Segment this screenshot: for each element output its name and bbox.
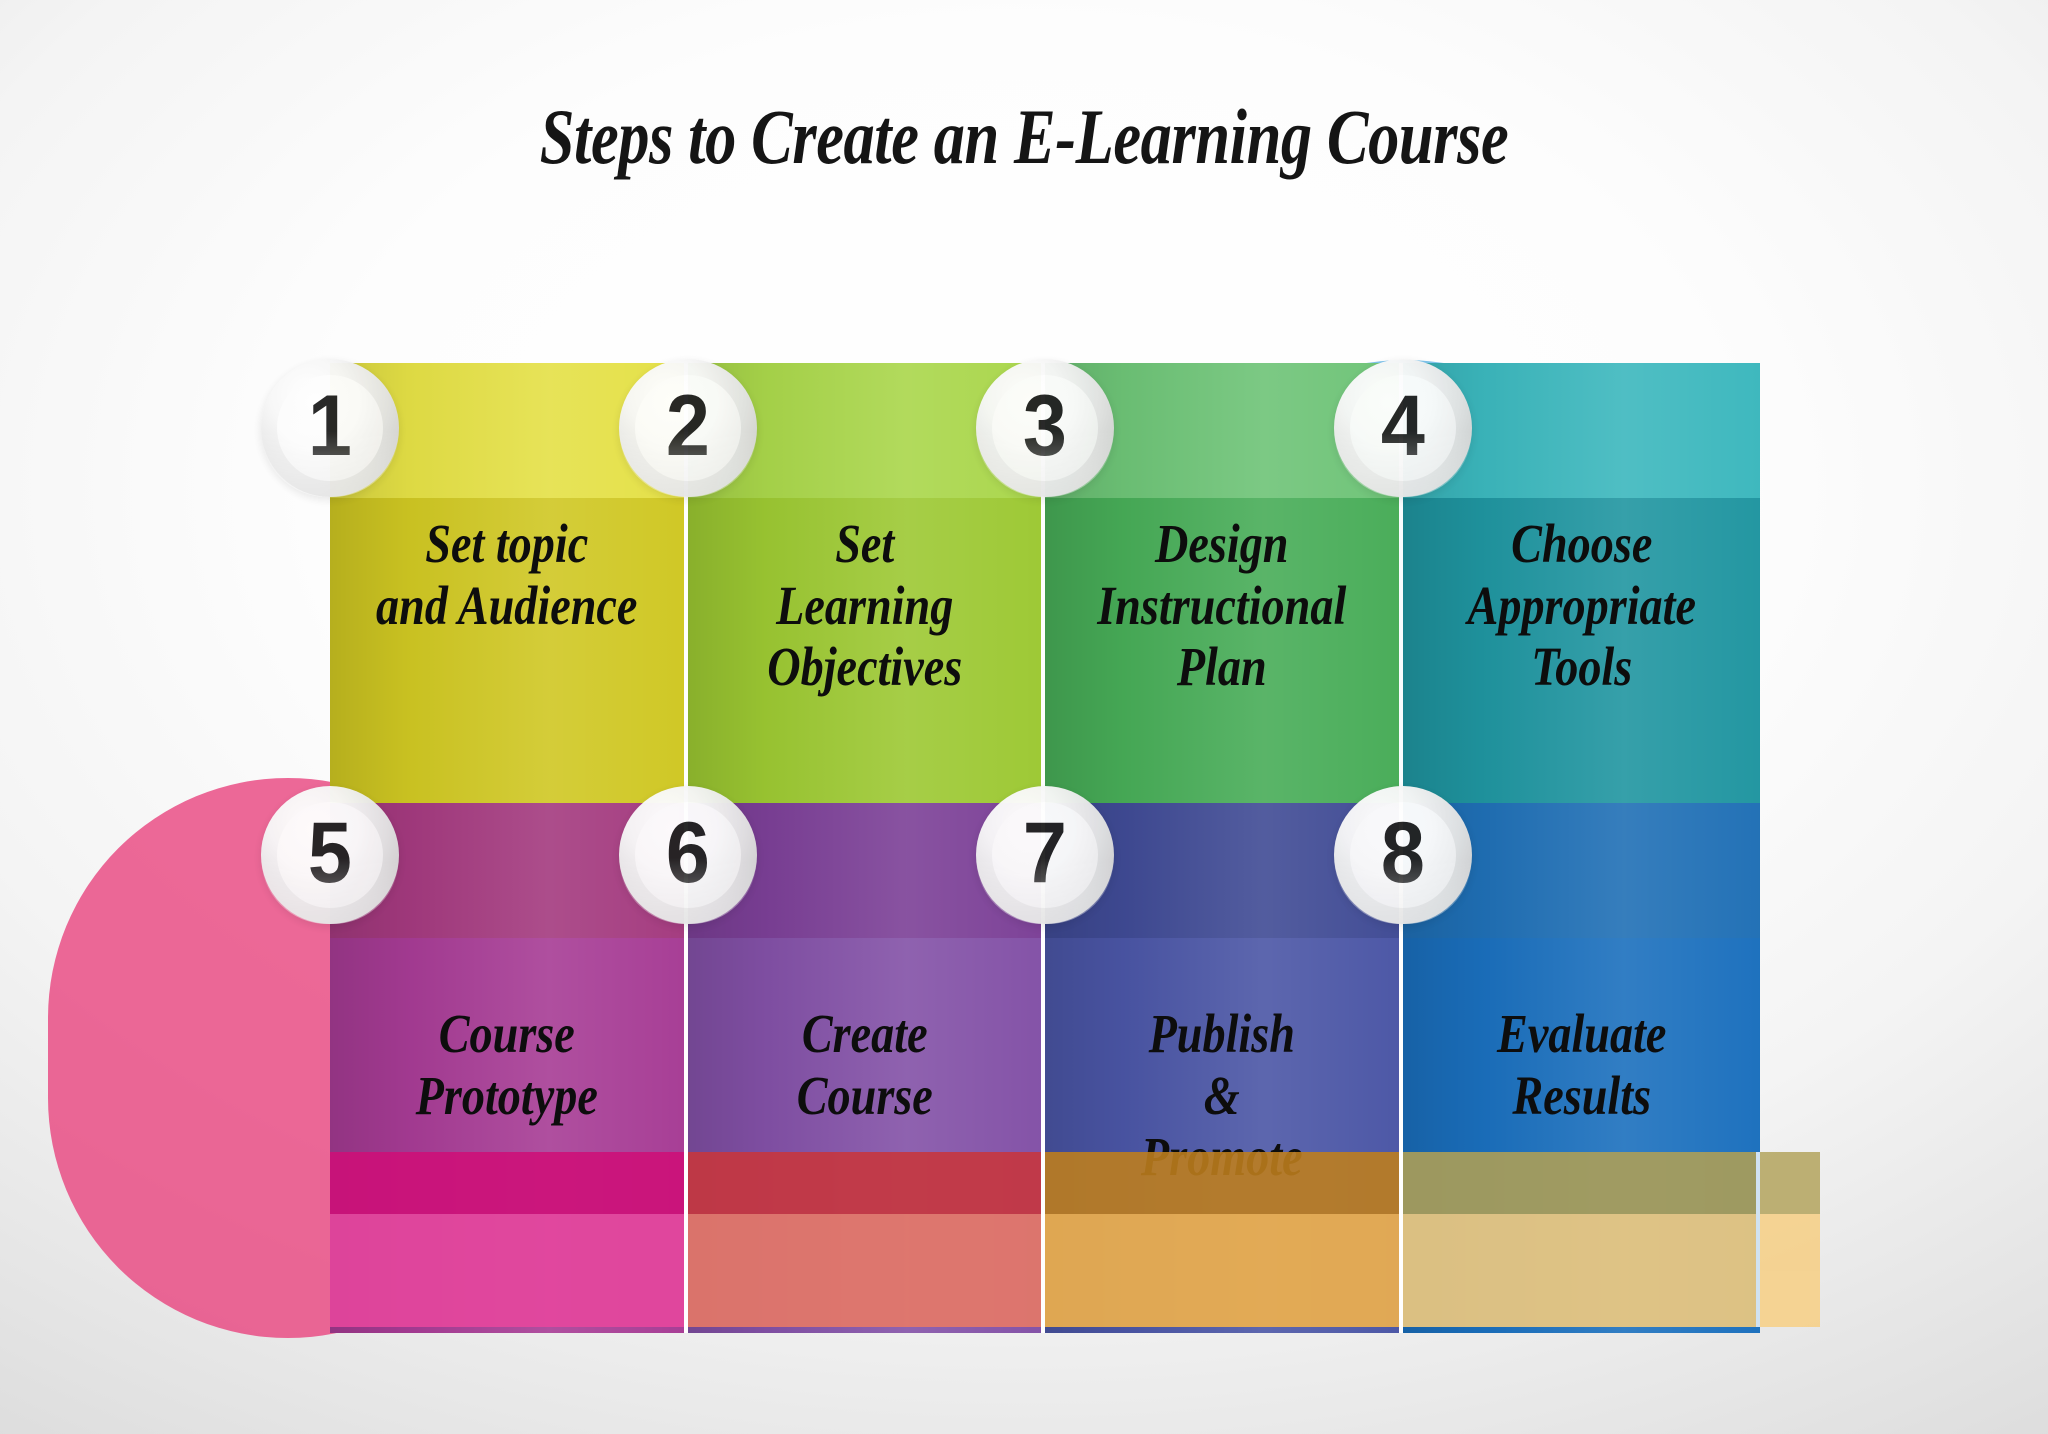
- accent-band-7-bottom: [1045, 1214, 1399, 1327]
- infographic-canvas: Steps to Create an E-Learning Course Set…: [0, 0, 2048, 1434]
- step-badge-3-number: 3: [1023, 383, 1067, 469]
- accent-band-8: [1403, 1152, 1761, 1327]
- step-8-label: EvaluateResults: [1431, 1003, 1731, 1126]
- accent-band-overflow: [1760, 1152, 1820, 1327]
- step-badge-4-number: 4: [1380, 383, 1424, 469]
- page-title: Steps to Create an E-Learning Course: [205, 98, 1843, 176]
- step-badge-2[interactable]: 2: [619, 359, 757, 497]
- step-badge-4-inner: 4: [1350, 375, 1456, 481]
- accent-band-5-bottom: [330, 1214, 684, 1327]
- step-badge-3-inner: 3: [992, 375, 1098, 481]
- accent-band-5-top: [330, 1152, 684, 1214]
- step-4-label: ChooseAppropriateTools: [1431, 513, 1731, 698]
- step-badge-5-inner: 5: [277, 802, 383, 908]
- accent-band-7: [1045, 1152, 1403, 1327]
- step-badge-1[interactable]: 1: [261, 359, 399, 497]
- accent-band-7-top: [1045, 1152, 1399, 1214]
- accent-band-6-bottom: [688, 1214, 1042, 1327]
- step-badge-7-number: 7: [1023, 810, 1067, 896]
- step-6-label: CreateCourse: [716, 1003, 1013, 1126]
- step-badge-2-number: 2: [665, 383, 709, 469]
- step-2-label: SetLearningObjectives: [716, 513, 1013, 698]
- step-badge-3[interactable]: 3: [976, 359, 1114, 497]
- accent-band-5: [330, 1152, 688, 1327]
- step-1-label: Set topicand Audience: [358, 513, 655, 636]
- step-badge-6-number: 6: [665, 810, 709, 896]
- step-badge-8[interactable]: 8: [1334, 786, 1472, 924]
- step-badge-4[interactable]: 4: [1334, 359, 1472, 497]
- accent-band-8-bottom: [1403, 1214, 1757, 1327]
- accent-band-8-top: [1403, 1152, 1757, 1214]
- step-badge-7[interactable]: 7: [976, 786, 1114, 924]
- step-3-label: DesignInstructionalPlan: [1073, 513, 1370, 698]
- step-badge-8-number: 8: [1380, 810, 1424, 896]
- step-badge-6-inner: 6: [635, 802, 741, 908]
- step-badge-5[interactable]: 5: [261, 786, 399, 924]
- step-badge-5-number: 5: [308, 810, 352, 896]
- step-5-label: CoursePrototype: [358, 1003, 655, 1126]
- accent-band-6-top: [688, 1152, 1042, 1214]
- accent-band-overflow-top: [1760, 1152, 1820, 1214]
- accent-band-overflow-bottom: [1760, 1214, 1820, 1327]
- step-badge-8-inner: 8: [1350, 802, 1456, 908]
- step-badge-1-number: 1: [308, 383, 352, 469]
- step-badge-7-inner: 7: [992, 802, 1098, 908]
- step-badge-6[interactable]: 6: [619, 786, 757, 924]
- accent-band-6: [688, 1152, 1046, 1327]
- step-badge-2-inner: 2: [635, 375, 741, 481]
- step-badge-1-inner: 1: [277, 375, 383, 481]
